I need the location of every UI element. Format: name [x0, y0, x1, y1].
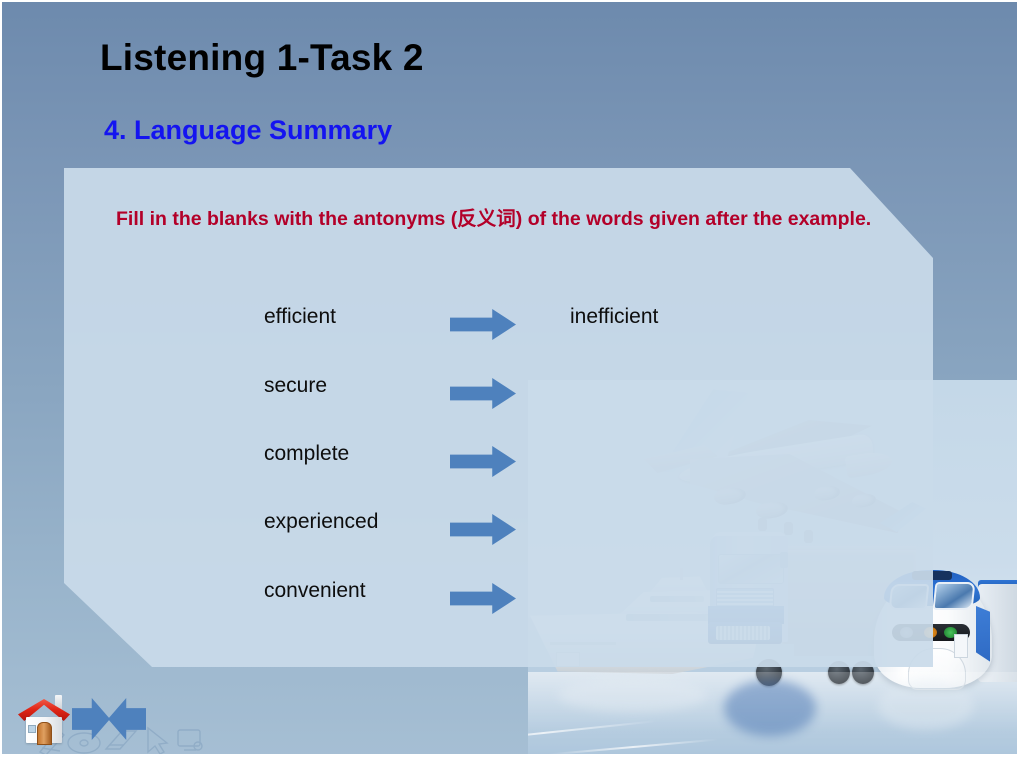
- instruction-chinese-gloss: 反义词: [457, 207, 516, 230]
- navigation-arrows: [72, 698, 146, 740]
- prompt-word: complete: [264, 442, 349, 466]
- home-door: [37, 722, 52, 745]
- section-subtitle: 4. Language Summary: [104, 115, 392, 146]
- truck-reflection: [724, 680, 816, 736]
- prompt-word: convenient: [264, 579, 366, 603]
- prompt-word: experienced: [264, 510, 378, 534]
- train-side-panel: [954, 634, 968, 658]
- home-window: [28, 725, 36, 733]
- train-reflection: [878, 680, 974, 730]
- instruction-part-2: ) of the words given after the example.: [516, 208, 871, 230]
- yacht-reflection: [558, 678, 708, 712]
- prompt-word: secure: [264, 374, 327, 398]
- prompt-word: efficient: [264, 305, 336, 329]
- page-title: Listening 1-Task 2: [100, 37, 424, 79]
- right-arrow-icon[interactable]: [72, 698, 110, 740]
- home-icon[interactable]: [18, 695, 70, 743]
- answer-word: inefficient: [570, 305, 658, 329]
- instruction-part-1: Fill in the blanks with the antonyms (: [116, 208, 457, 230]
- train-windshield-right: [933, 582, 976, 610]
- slide-toolbar: [0, 670, 210, 760]
- left-arrow-icon[interactable]: [108, 698, 146, 740]
- slide-canvas: Listening 1-Task 2 4. Language Summary F…: [0, 0, 1019, 760]
- instruction-text: Fill in the blanks with the antonyms (反义…: [116, 202, 886, 236]
